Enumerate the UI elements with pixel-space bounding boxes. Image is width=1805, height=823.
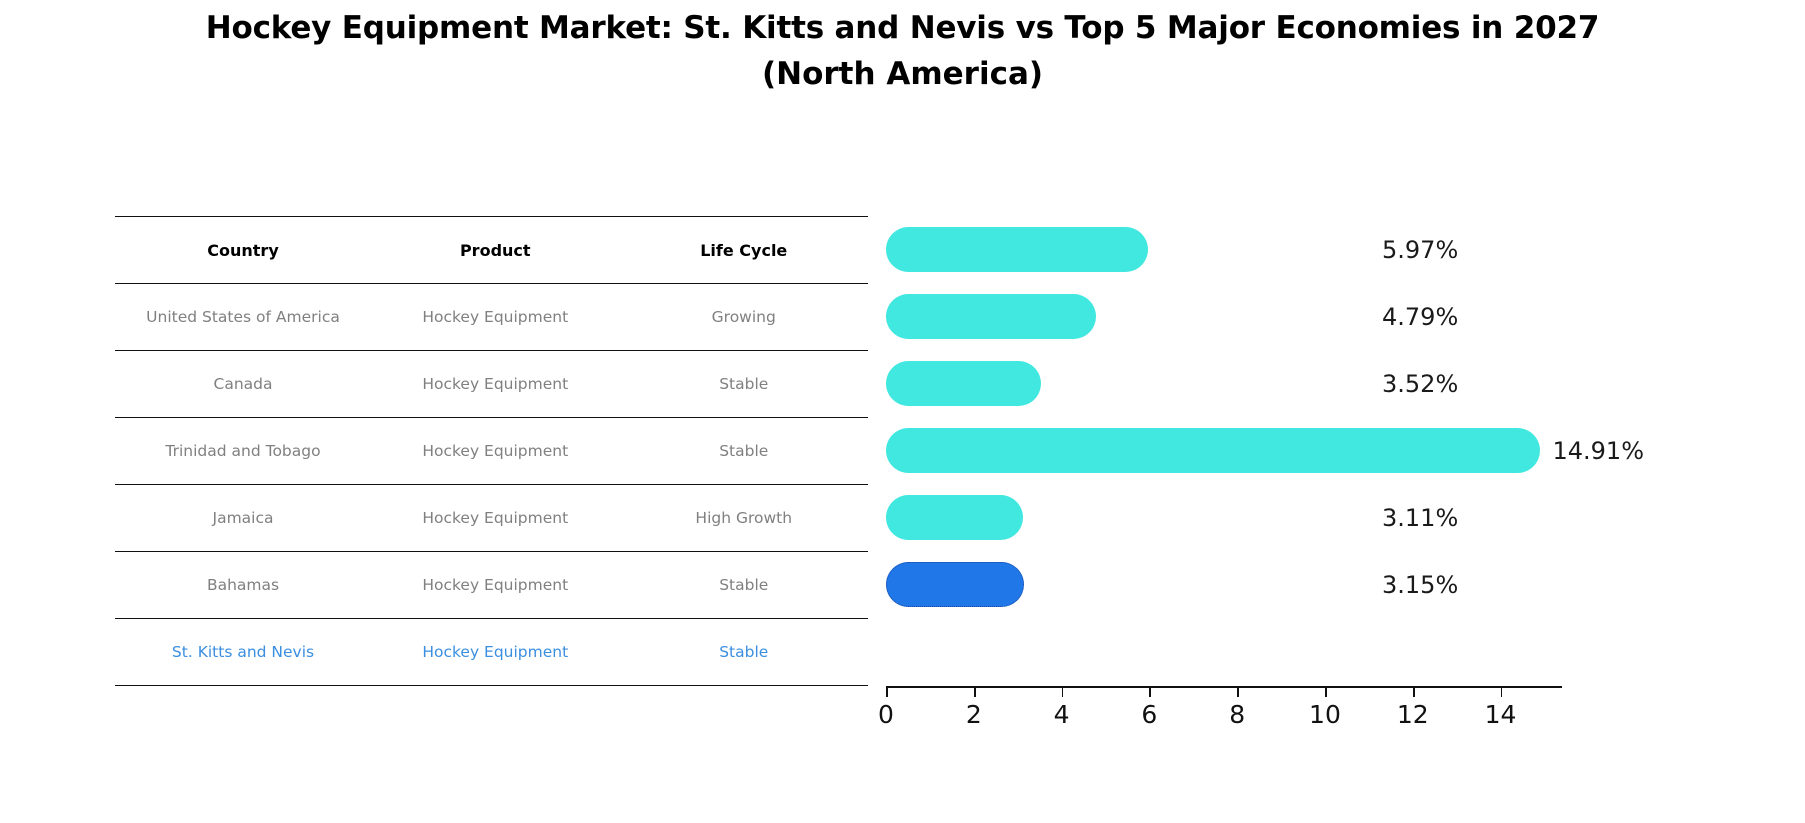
cell-country: Jamaica <box>115 485 371 552</box>
table-row: BahamasHockey EquipmentStable <box>115 552 868 619</box>
cell-product: Hockey Equipment <box>371 351 619 418</box>
cell-product: Hockey Equipment <box>371 284 619 351</box>
x-axis-tick <box>1501 686 1503 697</box>
table-row: United States of AmericaHockey Equipment… <box>115 284 868 351</box>
bar <box>886 495 1023 540</box>
bar-row: 3.11% <box>886 484 1562 551</box>
cell-product: Hockey Equipment <box>371 418 619 485</box>
cell-country: Canada <box>115 351 371 418</box>
x-axis-tick-label: 6 <box>1141 700 1157 729</box>
x-axis-line <box>886 686 1562 688</box>
page-subtitle: (North America) <box>0 54 1805 96</box>
table-row: CanadaHockey EquipmentStable <box>115 351 868 418</box>
cell-country: Bahamas <box>115 552 371 619</box>
cell-lifecycle: Stable <box>620 418 869 485</box>
column-header-country: Country <box>115 217 371 284</box>
bar-row: 14.91% <box>886 417 1562 484</box>
x-axis-tick-label: 14 <box>1485 700 1517 729</box>
table-header-row: Country Product Life Cycle <box>115 217 868 284</box>
x-axis-tick <box>1062 686 1064 697</box>
x-axis-tick-label: 10 <box>1309 700 1341 729</box>
table-header: Country Product Life Cycle <box>115 217 868 284</box>
x-axis-tick <box>1413 686 1415 697</box>
cell-country: Trinidad and Tobago <box>115 418 371 485</box>
x-axis-tick-label: 8 <box>1229 700 1245 729</box>
bar <box>886 361 1041 406</box>
x-axis-tick-label: 0 <box>878 700 894 729</box>
table-row: JamaicaHockey EquipmentHigh Growth <box>115 485 868 552</box>
x-axis-tick <box>974 686 976 697</box>
x-axis-tick <box>1237 686 1239 697</box>
table-row: St. Kitts and NevisHockey EquipmentStabl… <box>115 619 868 686</box>
cell-product: Hockey Equipment <box>371 485 619 552</box>
bar-row: 5.97% <box>886 216 1562 283</box>
bar <box>886 428 1540 473</box>
cell-country: St. Kitts and Nevis <box>115 619 371 686</box>
bar-highlighted <box>886 562 1024 607</box>
bar-value-label: 5.97% <box>1382 236 1458 264</box>
cell-lifecycle: Stable <box>620 552 869 619</box>
chart-title-block: Hockey Equipment Market: St. Kitts and N… <box>0 8 1805 96</box>
chart-figure: Hockey Equipment Market: St. Kitts and N… <box>0 0 1805 823</box>
table-body: United States of AmericaHockey Equipment… <box>115 284 868 686</box>
bar-value-label: 14.91% <box>1552 437 1644 465</box>
bar <box>886 227 1148 272</box>
x-axis-tick <box>1149 686 1151 697</box>
column-header-product: Product <box>371 217 619 284</box>
country-data-table: Country Product Life Cycle United States… <box>115 216 868 686</box>
bar-row: 3.15% <box>886 551 1562 618</box>
bar-value-label: 3.15% <box>1382 571 1458 599</box>
page-title: Hockey Equipment Market: St. Kitts and N… <box>0 8 1805 50</box>
cell-lifecycle: Stable <box>620 351 869 418</box>
cell-product: Hockey Equipment <box>371 552 619 619</box>
cell-country: United States of America <box>115 284 371 351</box>
table-row: Trinidad and TobagoHockey EquipmentStabl… <box>115 418 868 485</box>
x-axis-tick <box>886 686 888 697</box>
cell-lifecycle: Growing <box>620 284 869 351</box>
x-axis: 02468101214 <box>886 686 1562 746</box>
bar-row: 3.52% <box>886 350 1562 417</box>
bar-value-label: 3.11% <box>1382 504 1458 532</box>
bar-plot-area: 5.97%4.79%3.52%14.91%3.11%3.15% <box>886 216 1562 686</box>
x-axis-tick-label: 2 <box>966 700 982 729</box>
x-axis-tick <box>1325 686 1327 697</box>
x-axis-tick-label: 4 <box>1054 700 1070 729</box>
column-header-lifecycle: Life Cycle <box>620 217 869 284</box>
table: Country Product Life Cycle United States… <box>115 216 868 686</box>
bar <box>886 294 1096 339</box>
bar-row: 4.79% <box>886 283 1562 350</box>
bar-value-label: 4.79% <box>1382 303 1458 331</box>
bar-value-label: 3.52% <box>1382 370 1458 398</box>
cell-product: Hockey Equipment <box>371 619 619 686</box>
x-axis-tick-label: 12 <box>1397 700 1429 729</box>
cell-lifecycle: High Growth <box>620 485 869 552</box>
cell-lifecycle: Stable <box>620 619 869 686</box>
